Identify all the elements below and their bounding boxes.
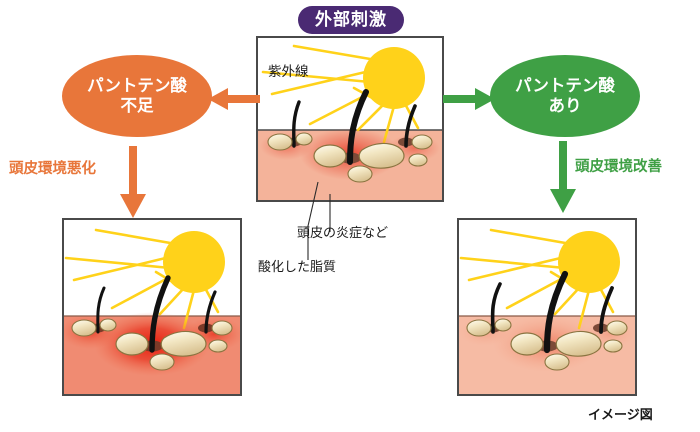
infographic-root: 外部刺激 パントテン酸 不足 パントテン酸 あり 頭皮環境悪化 頭皮環境改善: [0, 0, 700, 432]
pill-left-line1: パントテン酸: [87, 76, 187, 96]
arrow-right-icon: [443, 88, 495, 110]
annotation-oxidized-lipid: 酸化した脂質: [258, 256, 336, 275]
arrow-down-icon-left: [120, 146, 146, 218]
worsened-scalp-panel: [62, 218, 242, 396]
scalp-worsening-label: 頭皮環境悪化: [9, 157, 96, 178]
external-stimulus-badge: 外部刺激: [298, 6, 404, 34]
pantothenic-acid-deficiency-label: パントテン酸 不足: [62, 55, 212, 137]
scalp-improvement-label: 頭皮環境改善: [575, 155, 662, 176]
image-caption: イメージ図: [588, 404, 653, 423]
pill-right-line2: あり: [549, 96, 582, 116]
pill-right-line1: パントテン酸: [515, 76, 615, 96]
pantothenic-acid-present-label: パントテン酸 あり: [490, 55, 640, 137]
uv-rays-label: 紫外線: [268, 60, 309, 80]
pill-left-line2: 不足: [121, 96, 154, 116]
improved-scalp-panel: [457, 218, 637, 396]
annotation-inflammation: 頭皮の炎症など: [297, 222, 388, 241]
arrow-down-icon-right: [550, 141, 576, 213]
arrow-left-icon: [208, 88, 260, 110]
